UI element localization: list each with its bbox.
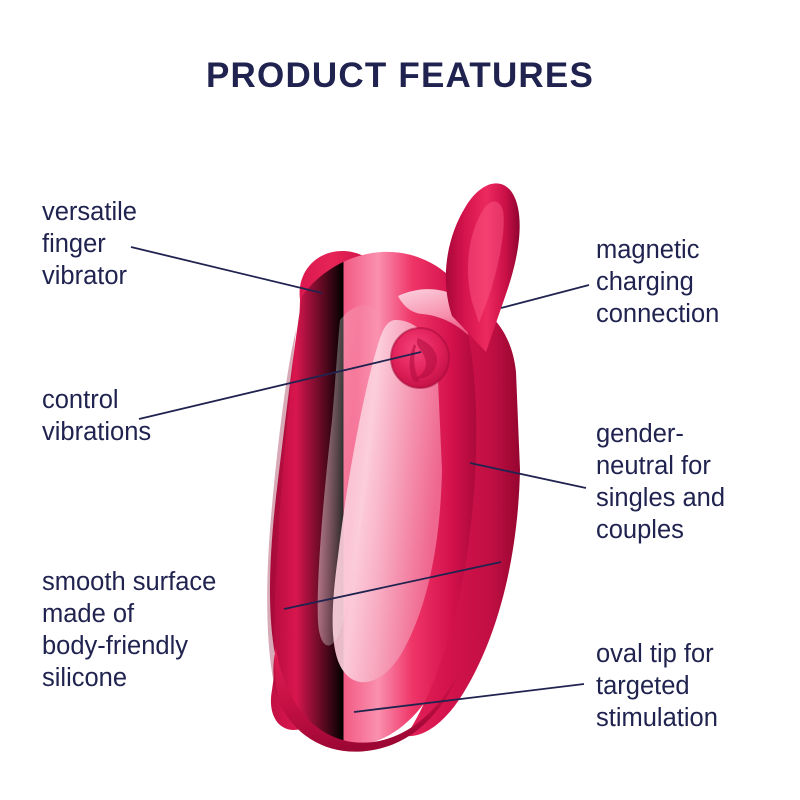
callout-control-vibrations: control vibrations	[42, 384, 262, 448]
callout-magnetic-charging: magnetic charging connection	[596, 234, 796, 330]
control-button[interactable]	[391, 328, 449, 388]
product-features-infographic: PRODUCT FEATURES	[0, 0, 800, 800]
callout-oval-tip: oval tip for targeted stimulation	[596, 638, 796, 734]
callout-versatile-finger-vibrator: versatile finger vibrator	[42, 196, 252, 292]
callout-smooth-surface: smooth surface made of body-friendly sil…	[42, 566, 292, 694]
callout-gender-neutral: gender- neutral for singles and couples	[596, 418, 796, 546]
